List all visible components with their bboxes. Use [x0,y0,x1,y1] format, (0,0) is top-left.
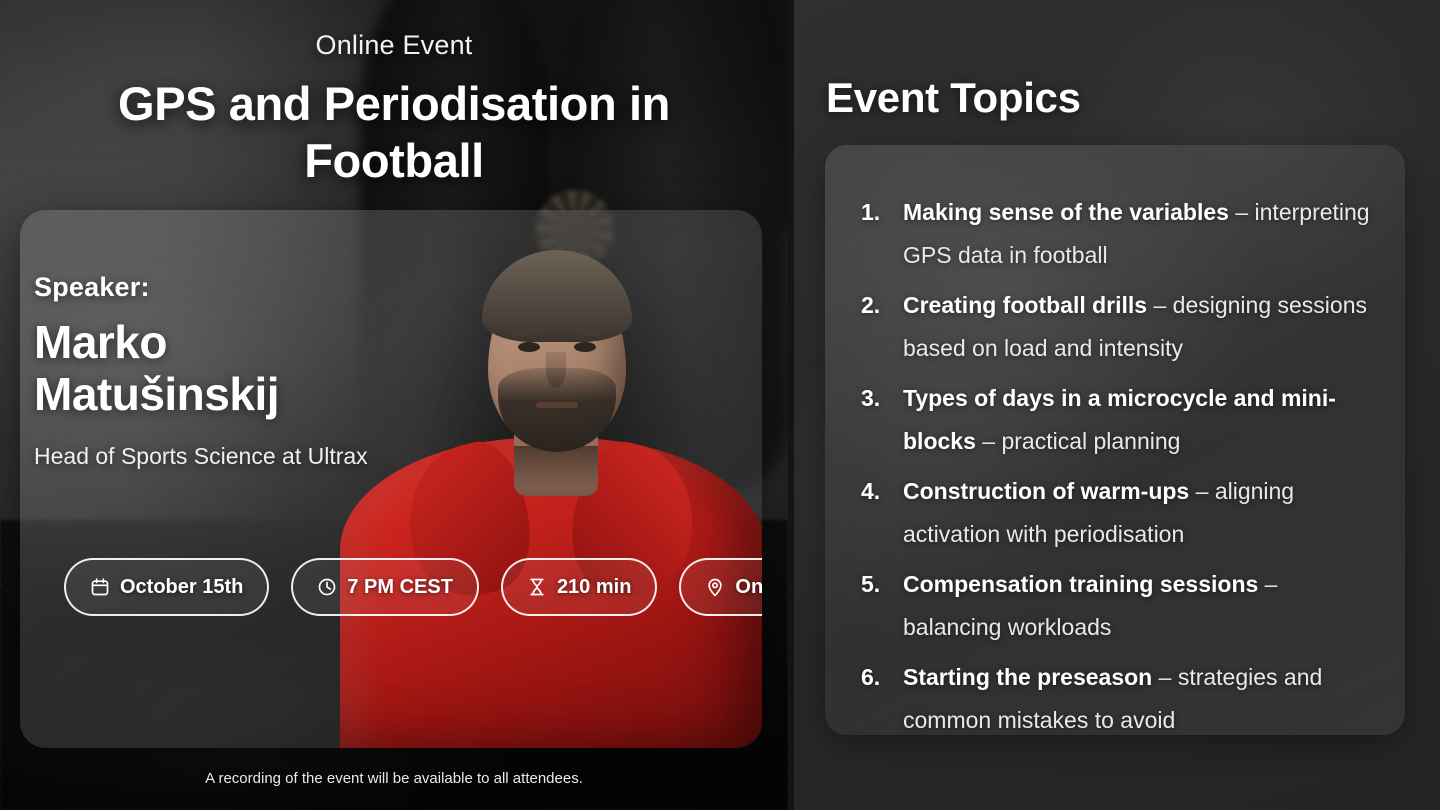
topic-number: 6. [861,656,895,699]
clock-icon [317,577,337,597]
pill-time-label: 7 PM CEST [347,576,453,599]
topic-item: 3.Types of days in a microcycle and mini… [861,377,1377,462]
topic-dash: – [1147,292,1173,318]
topic-number: 1. [861,191,895,234]
topic-item: 2.Creating football drills – designing s… [861,284,1377,369]
topic-item: 1.Making sense of the variables – interp… [861,191,1377,276]
pill-location-label: Online [735,576,762,599]
topic-dash: – [1229,199,1255,225]
topic-item: 6.Starting the preseason – strategies an… [861,656,1377,735]
topics-list: 1.Making sense of the variables – interp… [861,191,1377,735]
location-pin-icon [705,577,725,597]
calendar-icon [90,577,110,597]
topic-number: 4. [861,470,895,513]
pill-location[interactable]: Online [679,558,762,616]
event-header: Online Event GPS and Periodisation in Fo… [0,0,788,190]
poster-root: Online Event GPS and Periodisation in Fo… [0,0,1440,810]
topic-item: 5.Compensation training sessions – balan… [861,563,1377,648]
hourglass-icon [527,577,547,597]
speaker-details: Speaker: Marko Matušinskij Head of Sport… [20,210,762,748]
event-title: GPS and Periodisation in Football [60,75,728,190]
topic-dash: – [1152,664,1178,690]
event-info-pills: October 15th 7 PM CEST [64,558,762,616]
event-topics-panel: Event Topics 1.Making sense of the varia… [794,0,1440,810]
topic-dash: – [1258,571,1277,597]
pill-duration-label: 210 min [557,576,631,599]
topic-number: 2. [861,284,895,327]
speaker-card: Speaker: Marko Matušinskij Head of Sport… [20,210,762,748]
topic-item: 4.Construction of warm-ups – aligning ac… [861,470,1377,555]
topic-description: balancing workloads [903,614,1111,640]
topics-title: Event Topics [826,74,1081,122]
recording-notice: A recording of the event will be availab… [0,770,788,787]
speaker-role: Head of Sports Science at Ultrax [34,438,374,475]
topic-lead: Compensation training sessions [903,571,1258,597]
topic-dash: – [1189,478,1215,504]
topic-lead: Creating football drills [903,292,1147,318]
pill-date[interactable]: October 15th [64,558,269,616]
event-type-label: Online Event [60,30,728,61]
speaker-label: Speaker: [34,272,762,303]
topic-dash: – [976,428,1002,454]
topic-description: practical planning [1001,428,1180,454]
topics-card: 1.Making sense of the variables – interp… [825,145,1405,735]
topic-number: 5. [861,563,895,606]
topic-lead: Making sense of the variables [903,199,1229,225]
pill-time[interactable]: 7 PM CEST [291,558,479,616]
panel-divider [788,0,794,810]
pill-duration[interactable]: 210 min [501,558,657,616]
pill-date-label: October 15th [120,576,243,599]
event-hero-panel: Online Event GPS and Periodisation in Fo… [0,0,788,810]
speaker-name: Marko Matušinskij [34,317,394,420]
topic-lead: Construction of warm-ups [903,478,1189,504]
topic-lead: Starting the preseason [903,664,1152,690]
topic-number: 3. [861,377,895,420]
